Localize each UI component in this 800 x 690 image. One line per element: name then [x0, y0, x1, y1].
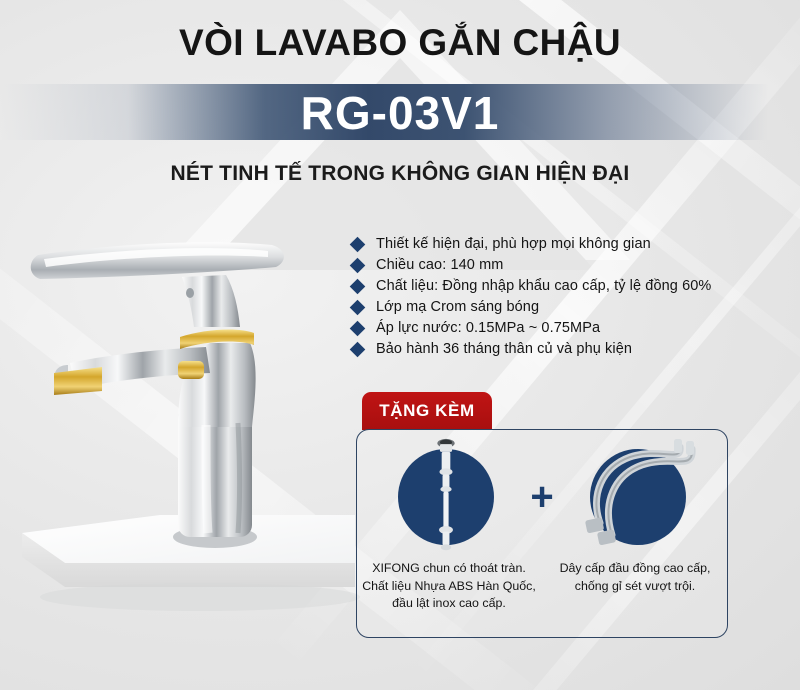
feature-text: Bảo hành 36 tháng thân củ và phụ kiện: [376, 341, 632, 357]
feature-list: Thiết kế hiện đại, phù hợp mọi không gia…: [352, 236, 711, 362]
gift-circle: [398, 449, 494, 545]
product-poster: VÒI LAVABO GẮN CHẬU RG-03V1 NÉT TINH TẾ …: [0, 0, 800, 690]
feature-item: Lớp mạ Crom sáng bóng: [352, 299, 711, 315]
gift-banner: TẶNG KÈM: [362, 392, 492, 430]
caption-line: XIFONG chun có thoát tràn.: [356, 560, 542, 578]
product-title: VÒI LAVABO GẮN CHẬU: [0, 22, 800, 63]
caption-line: Dây cấp đầu đồng cao cấp,: [542, 560, 728, 578]
caption-line: Chất liệu Nhựa ABS Hàn Quốc,: [356, 578, 542, 596]
gold-emblem: [178, 361, 204, 379]
caption-line: chống gỉ sét vượt trội.: [542, 578, 728, 596]
gift-caption-hose: Dây cấp đầu đồng cao cấp, chống gỉ sét v…: [542, 560, 728, 613]
tagline: NÉT TINH TẾ TRONG KHÔNG GIAN HIỆN ĐẠI: [0, 162, 800, 186]
gift-section: TẶNG KÈM: [356, 392, 728, 638]
diamond-bullet-icon: [350, 236, 366, 252]
feature-item: Chiều cao: 140 mm: [352, 257, 711, 273]
diamond-bullet-icon: [350, 320, 366, 336]
gift-item-drain: [371, 449, 521, 545]
gift-captions: XIFONG chun có thoát tràn. Chất liệu Nhự…: [356, 560, 728, 613]
gift-items: +: [356, 437, 728, 557]
feature-item: Áp lực nước: 0.15MPa ~ 0.75MPa: [352, 320, 711, 336]
diamond-bullet-icon: [350, 257, 366, 273]
feature-item: Chất liệu: Đồng nhập khẩu cao cấp, tỷ lệ…: [352, 278, 711, 294]
diamond-bullet-icon: [350, 299, 366, 315]
gift-item-hose: [563, 449, 713, 545]
feature-text: Chất liệu: Đồng nhập khẩu cao cấp, tỷ lệ…: [376, 278, 711, 294]
feature-text: Chiều cao: 140 mm: [376, 257, 503, 273]
gift-circle: [590, 449, 686, 545]
gift-caption-drain: XIFONG chun có thoát tràn. Chất liệu Nhự…: [356, 560, 542, 613]
feature-item: Bảo hành 36 tháng thân củ và phụ kiện: [352, 341, 711, 357]
basin-faucet-image: [10, 215, 360, 635]
diamond-bullet-icon: [350, 278, 366, 294]
page-title: VÒI LAVABO GẮN CHẬU: [0, 22, 800, 63]
feature-text: Lớp mạ Crom sáng bóng: [376, 299, 539, 315]
diamond-bullet-icon: [350, 341, 366, 357]
model-code: RG-03V1: [0, 86, 800, 140]
caption-line: đầu lật inox cao cấp.: [356, 595, 542, 613]
braided-hose-icon: [556, 427, 706, 567]
drain-valve-icon: [433, 431, 459, 563]
gift-banner-label: TẶNG KÈM: [379, 401, 474, 421]
feature-text: Áp lực nước: 0.15MPa ~ 0.75MPa: [376, 320, 600, 336]
feature-text: Thiết kế hiện đại, phù hợp mọi không gia…: [376, 236, 651, 252]
feature-item: Thiết kế hiện đại, phù hợp mọi không gia…: [352, 236, 711, 252]
